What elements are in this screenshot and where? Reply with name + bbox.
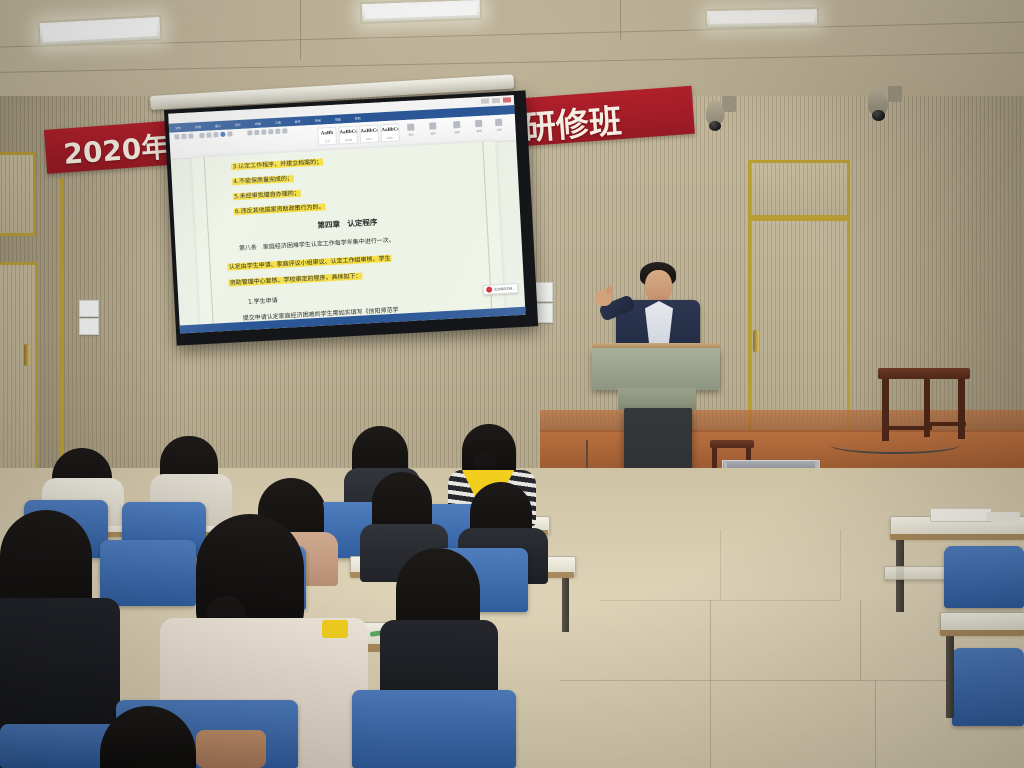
ribbon-button-select[interactable]: 选择 — [453, 121, 461, 134]
floor-tile — [545, 680, 711, 768]
doc-line: 3.认定工作程序，并建立档案的； — [231, 156, 323, 170]
style-sample: AaBbCc — [381, 127, 399, 133]
style-label: 正文 — [319, 140, 336, 144]
ribbon-group-paragraph[interactable] — [247, 128, 287, 135]
camera-dome-icon — [709, 121, 721, 131]
ceiling-seam — [300, 0, 301, 60]
save-notification[interactable]: 正在保存文档… — [483, 283, 519, 295]
door-handle-left[interactable] — [24, 344, 30, 366]
style-heading2[interactable]: AaBbCc 标题 2 — [380, 123, 400, 142]
style-normal[interactable]: AaBb 正文 — [317, 127, 337, 146]
select-label: 选择 — [454, 130, 459, 134]
ceiling-seam — [620, 0, 621, 40]
speaker-shirt — [645, 301, 673, 347]
wooden-side-table — [878, 368, 970, 442]
ribbon-button-edit[interactable]: 编辑 — [475, 120, 483, 133]
projected-word-window: 文件 开始 插入 设计 布局 引用 邮件 审阅 视图 帮助 — [168, 95, 525, 333]
table-rail — [882, 426, 932, 430]
replace-icon[interactable] — [429, 122, 436, 129]
door-transom-left — [0, 152, 36, 236]
numbering-icon[interactable] — [254, 130, 259, 135]
camera-mount — [888, 86, 902, 102]
chair-row1[interactable] — [352, 690, 516, 768]
ribbon-group-font[interactable] — [199, 131, 232, 138]
bold-icon[interactable] — [199, 133, 204, 138]
bullets-icon[interactable] — [247, 130, 252, 135]
notification-dot-icon — [486, 287, 492, 293]
notification-text: 正在保存文档… — [494, 286, 515, 291]
style-sample: AaBbCc — [339, 130, 357, 136]
chair-right[interactable] — [952, 648, 1024, 726]
doc-line: 5.未经审批擅自办理的； — [233, 188, 301, 201]
style-nospacing[interactable]: AaBbCc 无间隔 — [338, 126, 358, 145]
floor-tile — [720, 530, 841, 601]
doc-line: 4.不能保质量完成的； — [232, 173, 294, 185]
underline-icon[interactable] — [213, 132, 218, 137]
chair-row2[interactable] — [100, 540, 196, 606]
doc-line: 资助管理中心复核、学校审定的程序，具体如下： — [228, 271, 362, 287]
podium-desk — [592, 348, 720, 390]
door-left[interactable] — [0, 262, 38, 476]
door-transom-right — [748, 160, 850, 218]
style-heading1[interactable]: AaBbCc 标题 1 — [359, 124, 379, 143]
ribbon-group-clipboard[interactable] — [174, 133, 193, 139]
style-label: 标题 2 — [382, 136, 399, 140]
ribbon-button-replace[interactable]: 替换 — [429, 122, 437, 135]
italic-icon[interactable] — [206, 132, 211, 137]
page-margin-line — [204, 157, 214, 324]
highlight-icon[interactable] — [227, 131, 232, 136]
doc-line: 1.学生申请 — [248, 295, 278, 306]
projection-screen: 文件 开始 插入 设计 布局 引用 邮件 审阅 视图 帮助 — [164, 90, 538, 345]
word-document-page[interactable]: 3.认定工作程序，并建立档案的； 4.不能保质量完成的； 5.未经审批擅自办理的… — [191, 141, 504, 324]
copy-icon[interactable] — [188, 133, 193, 138]
share-icon[interactable] — [495, 119, 502, 126]
papers-on-desk — [986, 512, 1020, 521]
doc-line: 第八条 家庭经济困难学生认定工作每学年集中进行一次。 — [239, 235, 395, 252]
student-arm — [196, 730, 266, 768]
papers-on-desk — [930, 508, 992, 522]
doc-line: 认定由学生申请、家庭评议小组审议、认定工作组审核、学生 — [227, 253, 391, 271]
desk-leg — [946, 636, 954, 718]
lecture-hall-photo: 2020年新 升研修班 文件 开始 插入 设计 布局 引用 邮件 审阅 视图 帮… — [0, 0, 1024, 768]
font-color-icon[interactable] — [220, 132, 225, 137]
edit-label: 编辑 — [476, 129, 481, 133]
align-right-icon[interactable] — [275, 129, 280, 134]
doc-line: 6.违反其他国家资助政策行为的。 — [234, 201, 326, 215]
style-label: 无间隔 — [340, 139, 357, 143]
cut-icon[interactable] — [181, 134, 186, 139]
table-rail — [924, 422, 966, 426]
camera-mount — [722, 96, 736, 112]
table-top — [878, 368, 970, 379]
camera-dome-icon — [872, 110, 885, 121]
find-icon[interactable] — [407, 123, 414, 130]
ribbon-button-share[interactable]: 共享 — [495, 119, 503, 132]
floor-cable — [830, 436, 960, 454]
find-label: 查找 — [408, 133, 413, 137]
speaker-thumb — [606, 286, 613, 295]
wall-notice — [79, 318, 99, 335]
style-label: 标题 1 — [361, 137, 378, 141]
ceiling-light-icon — [360, 0, 483, 24]
table-leg — [882, 379, 889, 441]
stool-top — [710, 440, 754, 448]
desk-edge — [890, 534, 1024, 540]
door-handle-right[interactable] — [753, 330, 759, 352]
floor-tile — [560, 600, 711, 681]
ceiling-light-icon — [705, 7, 819, 29]
wall-notice — [79, 300, 99, 317]
desk-leg — [562, 578, 569, 632]
wall-trim-left — [60, 178, 64, 468]
floor-tile — [710, 680, 876, 768]
floor-tile — [710, 600, 861, 681]
ribbon-button-find[interactable]: 查找 — [407, 123, 415, 136]
share-label: 共享 — [496, 128, 501, 132]
align-left-icon[interactable] — [261, 130, 266, 135]
select-icon[interactable] — [453, 121, 460, 128]
style-gallery[interactable]: AaBb 正文 AaBbCc 无间隔 AaBbCc 标题 1 AaBbCc 标题… — [317, 123, 400, 145]
paste-icon[interactable] — [174, 134, 179, 139]
edit-icon[interactable] — [475, 120, 482, 127]
chair-right[interactable] — [944, 546, 1024, 608]
line-spacing-icon[interactable] — [282, 128, 287, 133]
table-leg — [958, 379, 965, 439]
floor-tile — [600, 530, 721, 601]
replace-label: 替换 — [430, 131, 435, 135]
style-sample: AaBb — [321, 131, 333, 137]
align-center-icon[interactable] — [268, 129, 273, 134]
window-controls[interactable] — [481, 97, 511, 104]
style-sample: AaBbCc — [360, 128, 378, 134]
podium-neck — [618, 388, 696, 410]
